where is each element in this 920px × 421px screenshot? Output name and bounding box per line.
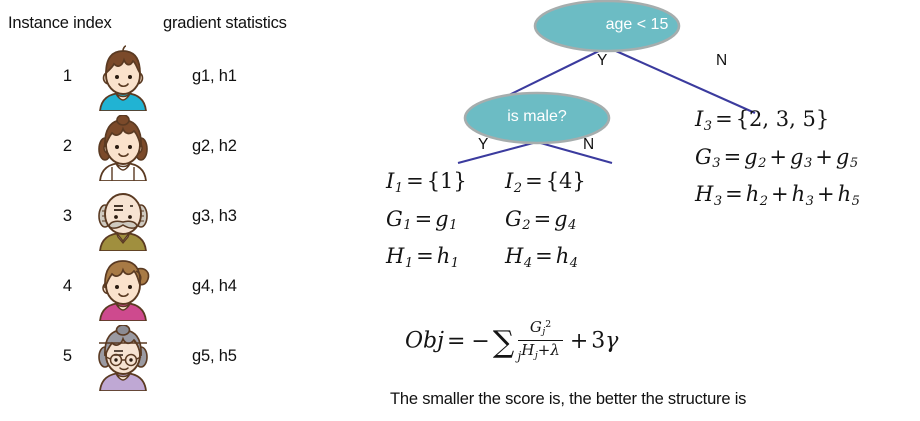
objective-minus-sign: −: [468, 329, 492, 354]
row-index-label: 3: [40, 207, 72, 226]
branch-label-is-male-yes: Y: [478, 136, 488, 154]
objective-function-formula: Obj=−∑jGj2Hj+λ+3γ: [405, 318, 618, 365]
girl-ponytail-avatar: [92, 255, 154, 321]
leaf-3-hessian-sum: H3=h2+h3+h5: [695, 179, 860, 217]
fraction-numerator: Gj2: [518, 317, 563, 341]
tree-node-root-label: age < 15: [572, 16, 702, 34]
leaf-3-instance-set: I3={2, 3, 5}: [695, 104, 860, 142]
decision-tree-panel: age < 15 is male? Y N Y N I1={1} G1=g1 H…: [330, 0, 920, 421]
row-gradient-stats: g5, h5: [192, 347, 237, 366]
edge-male-yes: [458, 142, 537, 163]
branch-label-is-male-no: N: [583, 136, 594, 154]
row-index-label: 2: [40, 137, 72, 156]
objective-plus-sign: +: [567, 329, 591, 354]
fraction-denominator: Hj+λ: [518, 341, 563, 364]
edge-male-no: [537, 142, 612, 163]
column-header-instance-index: Instance index: [8, 14, 112, 33]
gamma-coefficient: 3: [591, 329, 605, 354]
leaf-2-instance-set: I2={4}: [505, 166, 586, 204]
old-man-avatar: [92, 185, 154, 251]
table-row: 2 g2, h2: [0, 115, 330, 185]
table-row: 3 g3, h3: [0, 185, 330, 255]
edge-root-yes: [507, 47, 607, 96]
branch-label-root-yes: Y: [597, 52, 607, 70]
leaf-1-instance-set: I1={1}: [386, 166, 467, 204]
leaf-2-statistics: I2={4} G2=g4 H4=h4: [505, 166, 586, 279]
leaf-2-hessian-sum: H4=h4: [505, 241, 586, 279]
leaf-1-statistics: I1={1} G1=g1 H1=h1: [386, 166, 467, 279]
gamma-symbol: γ: [605, 329, 618, 354]
leaf-3-statistics: I3={2, 3, 5} G3=g2+g3+g5 H3=h2+h3+h5: [695, 104, 860, 217]
row-index-label: 1: [40, 67, 72, 86]
row-gradient-stats: g4, h4: [192, 277, 237, 296]
row-index-label: 4: [40, 277, 72, 296]
objective-lhs: Obj: [405, 329, 444, 354]
objective-equals: =: [444, 329, 468, 354]
leaf-1-gradient-sum: G1=g1: [386, 204, 467, 242]
objective-fraction: Gj2Hj+λ: [518, 317, 563, 364]
column-header-gradient-statistics: gradient statistics: [163, 14, 287, 33]
row-gradient-stats: g2, h2: [192, 137, 237, 156]
instance-table: Instance index gradient statistics 1 g1,…: [0, 0, 330, 421]
table-row: 4 g4, h4: [0, 255, 330, 325]
table-row: 5 g5, h5: [0, 325, 330, 395]
girl-braids-avatar: [92, 115, 154, 181]
row-index-label: 5: [40, 347, 72, 366]
caption-text: The smaller the score is, the better the…: [390, 390, 746, 409]
leaf-3-gradient-sum: G3=g2+g3+g5: [695, 142, 860, 180]
leaf-2-gradient-sum: G2=g4: [505, 204, 586, 242]
table-row: 1 g1, h1: [0, 45, 330, 115]
row-gradient-stats: g1, h1: [192, 67, 237, 86]
leaf-1-hessian-sum: H1=h1: [386, 241, 467, 279]
boy-avatar: [92, 45, 154, 111]
branch-label-root-no: N: [716, 52, 727, 70]
summation-symbol: ∑j: [493, 328, 514, 358]
old-woman-avatar: [92, 325, 154, 391]
row-gradient-stats: g3, h3: [192, 207, 237, 226]
tree-node-is-male-label: is male?: [472, 108, 602, 126]
